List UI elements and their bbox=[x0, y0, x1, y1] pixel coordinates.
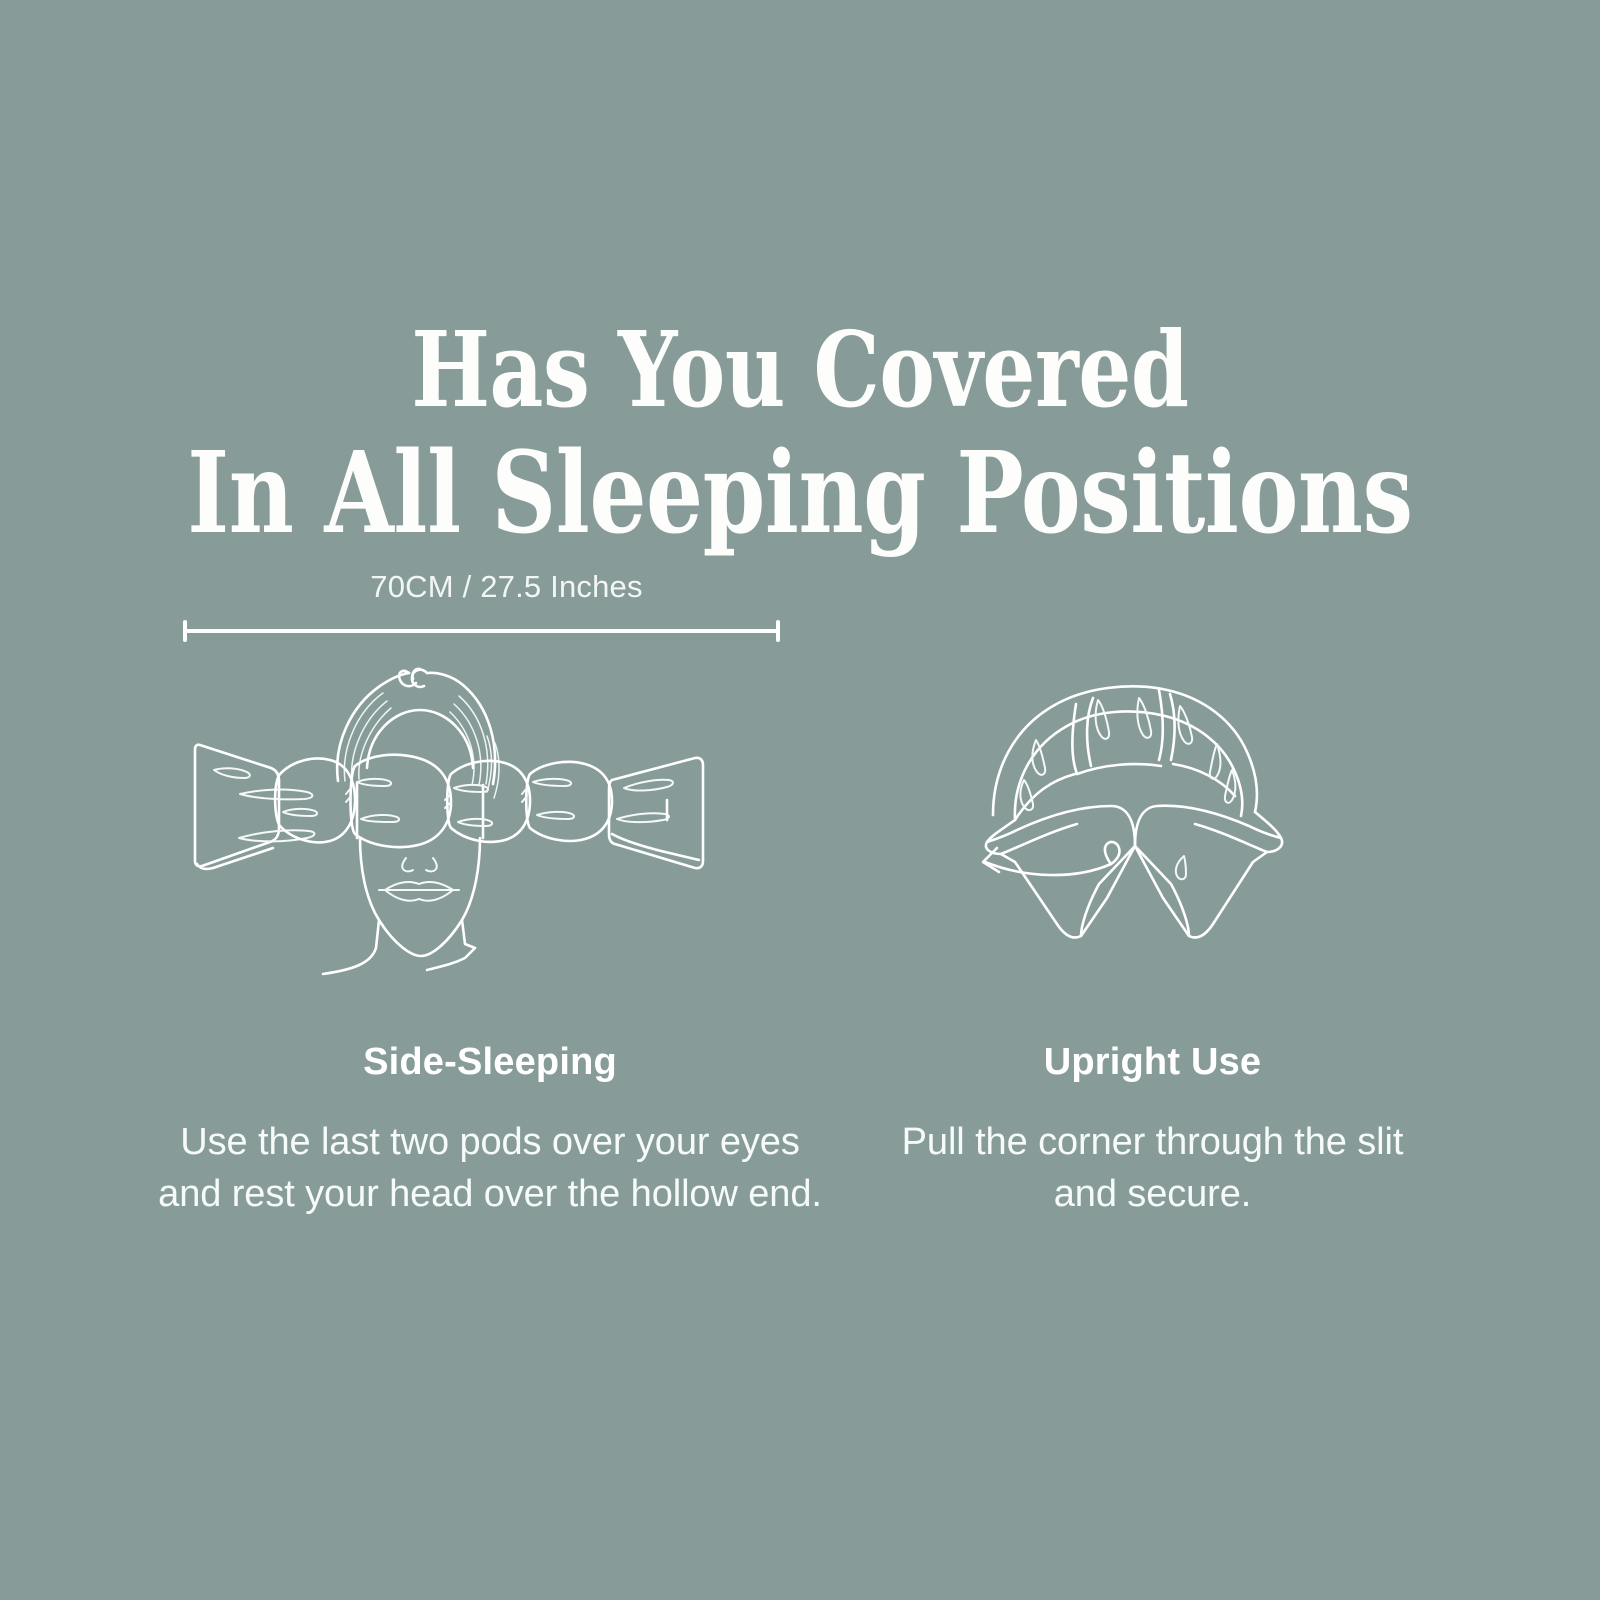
panel-side-sleeping: Side-Sleeping Use the last two pods over… bbox=[145, 1040, 835, 1220]
mask-corner-through-slit-line-drawing bbox=[935, 640, 1335, 960]
panel-body-side-sleeping: Use the last two pods over your eyes and… bbox=[145, 1116, 835, 1221]
panel-body-upright-use: Pull the corner through the slit and sec… bbox=[880, 1116, 1425, 1221]
measurement-label: 70CM / 27.5 Inches bbox=[183, 570, 780, 604]
title-line-2: In All Sleeping Positions bbox=[160, 438, 1440, 550]
face-wearing-eye-mask-line-drawing bbox=[175, 648, 795, 978]
dimension-bar-line bbox=[183, 629, 780, 633]
title-line-1: Has You Covered bbox=[160, 318, 1440, 422]
page-title: Has You Covered In All Sleeping Position… bbox=[0, 318, 1600, 550]
product-infographic-image: Has You Covered In All Sleeping Position… bbox=[0, 0, 1600, 1600]
dimension-bar-icon bbox=[183, 620, 780, 642]
dimension-bar-right-cap bbox=[776, 620, 780, 642]
panel-heading-upright-use: Upright Use bbox=[880, 1040, 1425, 1086]
measurement-annotation: 70CM / 27.5 Inches bbox=[183, 570, 780, 642]
panel-upright-use: Upright Use Pull the corner through the … bbox=[880, 1040, 1425, 1220]
panel-heading-side-sleeping: Side-Sleeping bbox=[145, 1040, 835, 1086]
